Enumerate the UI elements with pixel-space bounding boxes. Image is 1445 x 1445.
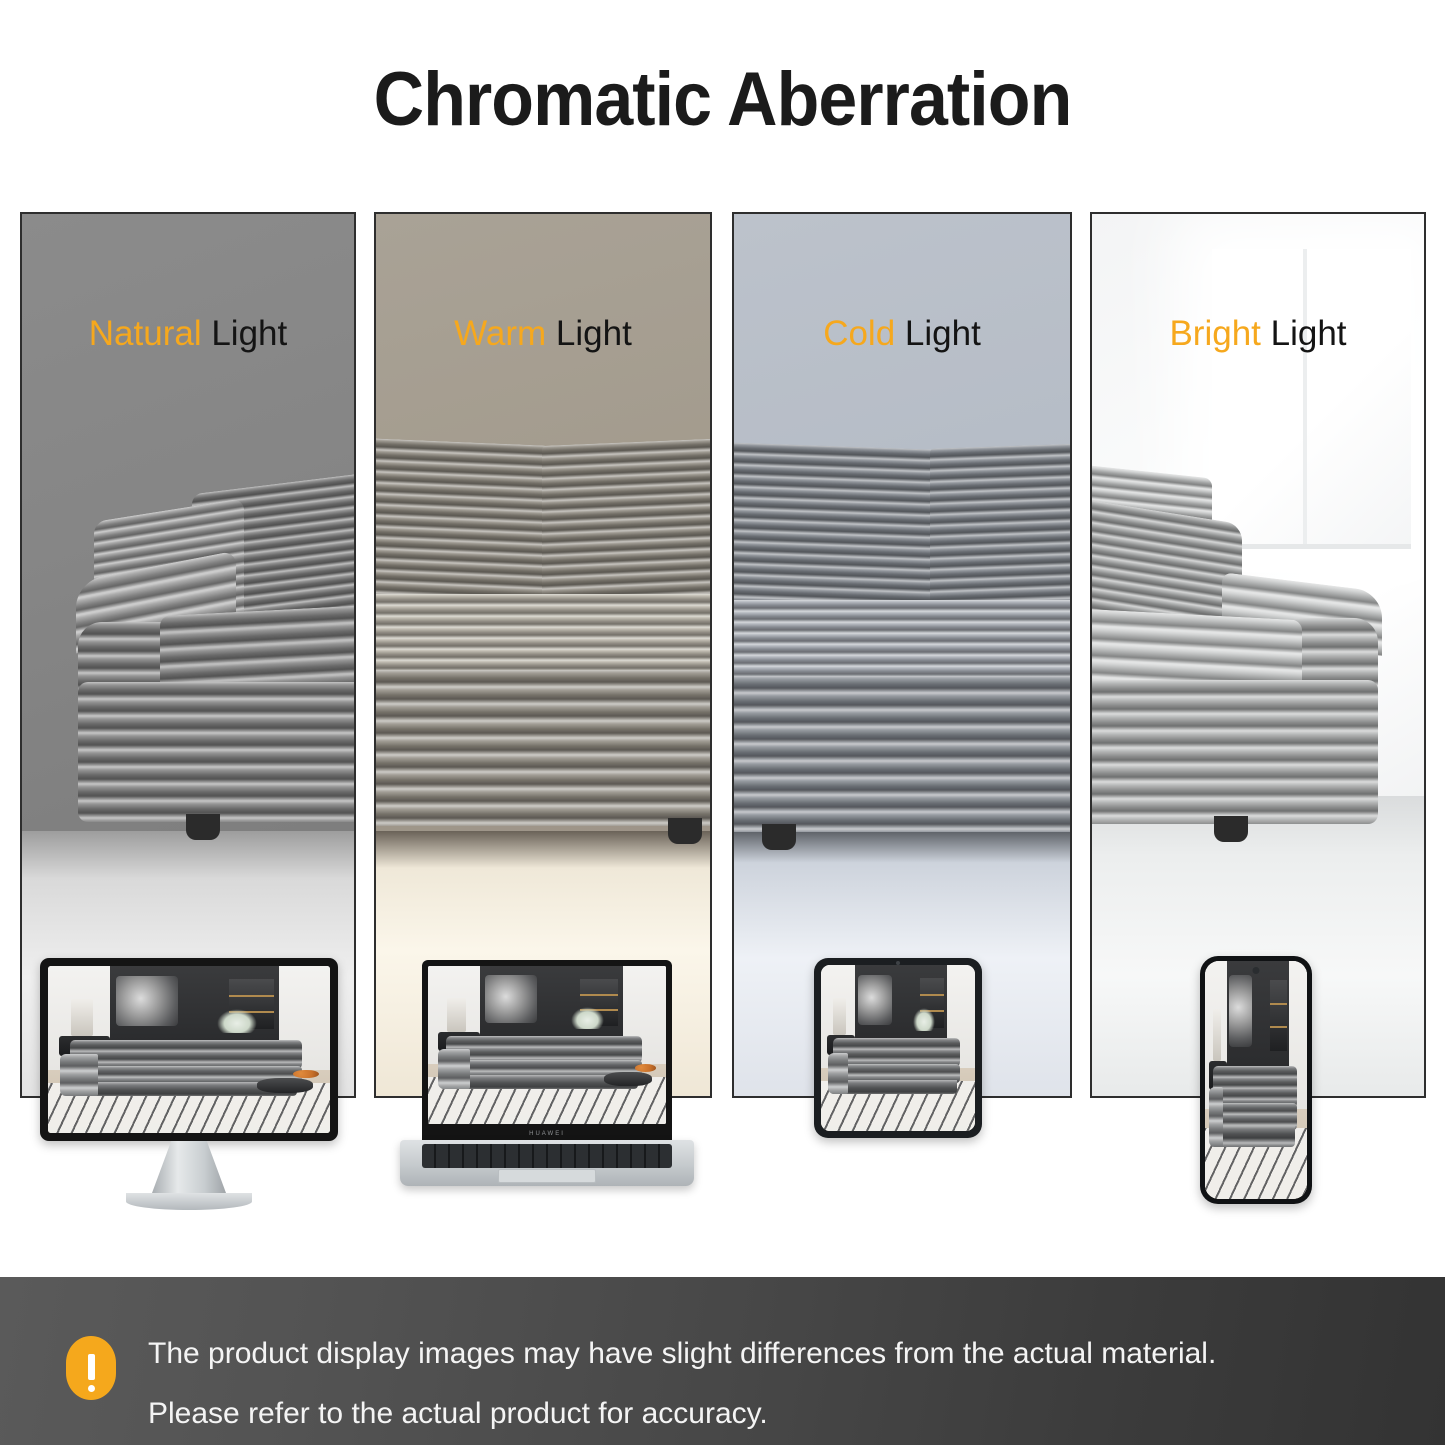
room-fruit-bowl	[635, 1064, 656, 1072]
laptop-base	[400, 1140, 694, 1186]
laptop-trackpad[interactable]	[498, 1169, 596, 1183]
panel-label-accent: Warm	[454, 314, 546, 353]
room-coffee-table	[257, 1078, 313, 1093]
panel-label-natural: Natural Light	[22, 314, 354, 354]
room-plant	[913, 1008, 935, 1031]
monitor-stand-foot	[126, 1193, 252, 1210]
exclamation-circle-icon	[66, 1336, 116, 1400]
laptop-screen	[428, 966, 666, 1124]
laptop-lid: HUAWEI	[422, 960, 672, 1140]
room-sofa-arm	[1209, 1087, 1223, 1147]
disclaimer-line-1: The product display images may have slig…	[148, 1337, 1216, 1371]
room-plant	[571, 1007, 604, 1029]
room-artwork	[116, 976, 178, 1026]
exclamation-mark	[88, 1354, 95, 1380]
room-sofa-back	[1213, 1066, 1297, 1108]
panel-label-warm: Warm Light	[376, 314, 710, 354]
phone-camera-icon	[1253, 967, 1260, 974]
room-sofa-back	[833, 1038, 960, 1067]
room-scene	[1205, 961, 1307, 1199]
room-artwork	[485, 975, 537, 1022]
window-mullion	[1303, 249, 1307, 549]
room-scene	[428, 966, 666, 1124]
window-glow	[1212, 249, 1411, 549]
tablet-bezel	[814, 958, 982, 1138]
room-sofa	[830, 1038, 959, 1094]
room-sofa-base	[830, 1080, 957, 1095]
device-mockup-tablet	[814, 958, 982, 1138]
panel-label-accent: Bright	[1169, 314, 1260, 353]
panel-label-plain: Light	[211, 314, 287, 353]
phone-screen	[1205, 961, 1307, 1199]
room-sofa-arm	[438, 1049, 470, 1089]
device-mockup-laptop: HUAWEI	[400, 960, 694, 1186]
monitor-bezel	[40, 958, 338, 1141]
phone-bezel	[1200, 956, 1312, 1204]
device-mockup-monitor	[40, 958, 338, 1210]
room-scene	[48, 966, 330, 1133]
room-sofa-base	[1211, 1126, 1295, 1147]
device-mockup-phone	[1200, 956, 1312, 1204]
room-sofa-arm	[60, 1054, 98, 1096]
monitor-screen	[48, 966, 330, 1133]
room-fruit-bowl	[293, 1070, 318, 1078]
room-artwork	[1229, 975, 1251, 1046]
panel-label-cold: Cold Light	[734, 314, 1070, 354]
panel-label-accent: Cold	[823, 314, 895, 353]
laptop-keyboard[interactable]	[422, 1144, 672, 1168]
panel-label-plain: Light	[1271, 314, 1347, 353]
room-coffee-table	[604, 1072, 652, 1086]
tablet-screen	[821, 965, 975, 1131]
disclaimer-line-2: Please refer to the actual product for a…	[148, 1397, 768, 1431]
room-sofa-arm	[828, 1053, 849, 1095]
room-sofa-back	[70, 1040, 302, 1070]
room-artwork	[858, 975, 892, 1025]
room-lamp	[447, 998, 466, 1033]
panel-label-plain: Light	[556, 314, 632, 353]
room-lamp	[71, 999, 94, 1036]
panel-label-accent: Natural	[89, 314, 202, 353]
laptop-brand-label: HUAWEI	[422, 1131, 672, 1137]
room-sofa	[1211, 1066, 1297, 1147]
room-plant	[217, 1009, 256, 1032]
panel-label-bright: Bright Light	[1092, 314, 1424, 354]
room-shelf	[1270, 980, 1286, 1051]
room-scene	[821, 965, 975, 1131]
room-lamp	[1213, 1009, 1221, 1061]
monitor-stand-neck	[152, 1141, 226, 1193]
room-lamp	[833, 998, 845, 1035]
comparison-panel-grid: Natural Light Warm Light	[0, 0, 1445, 1445]
panel-label-plain: Light	[905, 314, 981, 353]
